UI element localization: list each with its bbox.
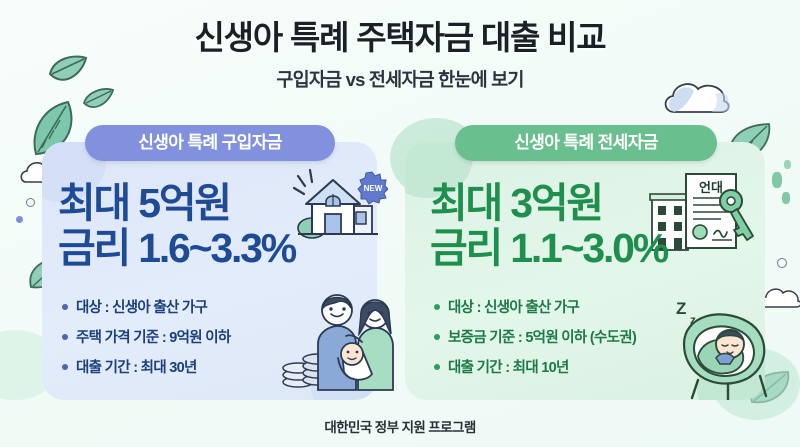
house-icon: NEW: [288, 166, 388, 253]
list-item: 대상 : 신생아 출산 가구: [62, 296, 231, 317]
bullet-dot-icon: [62, 304, 68, 310]
document-title-label: 언대: [699, 180, 723, 195]
family-icon: [280, 282, 400, 397]
page-title: 신생아 특례 주택자금 대출 비교: [0, 20, 800, 57]
bullet-dot-icon: [434, 364, 440, 370]
jeonse-amount: 최대 3억원: [430, 183, 602, 224]
purchase-rate: 금리 1.6~3.3%: [58, 228, 295, 269]
bullet-dot-icon: [434, 304, 440, 310]
list-item: 대출 기간 : 최대 10년: [434, 356, 636, 377]
list-item-label: 대출 기간 : 최대 10년: [448, 356, 569, 377]
dot-decoration: [784, 160, 791, 169]
footer-note: 대한민국 정부 지원 프로그램: [0, 416, 800, 436]
list-item-label: 대출 기간 : 최대 30년: [76, 356, 197, 377]
dot-decoration: [772, 172, 782, 188]
list-item-label: 주택 가격 기준 : 9억원 이하: [76, 326, 231, 347]
page-subtitle: 구입자금 vs 전세자금 한눈에 보기: [0, 66, 800, 92]
badge-jeonse-loan: 신생아 특례 전세자금: [455, 125, 717, 161]
dot-decoration: [26, 198, 35, 207]
list-item-label: 대상 : 신생아 출산 가구: [448, 296, 579, 317]
badge-purchase-loan: 신생아 특례 구입자금: [85, 125, 335, 161]
bullet-dot-icon: [62, 364, 68, 370]
infographic-canvas: 신생아 특례 주택자금 대출 비교 구입자금 vs 전세자금 한눈에 보기 신생…: [0, 0, 800, 447]
new-badge-icon: NEW: [364, 184, 383, 193]
dot-decoration: [16, 216, 23, 223]
list-item: 대상 : 신생아 출산 가구: [434, 296, 636, 317]
bullet-dot-icon: [434, 334, 440, 340]
list-item-label: 대상 : 신생아 출산 가구: [76, 296, 207, 317]
purchase-amount: 최대 5억원: [58, 183, 230, 224]
list-item: 주택 가격 기준 : 9억원 이하: [62, 326, 231, 347]
list-item: 대출 기간 : 최대 30년: [62, 356, 231, 377]
dot-decoration: [782, 192, 790, 204]
bullet-dot-icon: [62, 334, 68, 340]
purchase-bullet-list: 대상 : 신생아 출산 가구 주택 가격 기준 : 9억원 이하 대출 기간 :…: [62, 296, 231, 386]
list-item-label: 보증금 기준 : 5억원 이하 (수도권): [448, 326, 636, 347]
sleep-z-icon: Z: [676, 299, 686, 318]
dot-decoration: [777, 258, 787, 268]
jeonse-bullet-list: 대상 : 신생아 출산 가구 보증금 기준 : 5억원 이하 (수도권) 대출 …: [434, 296, 636, 386]
header: 신생아 특례 주택자금 대출 비교 구입자금 vs 전세자금 한눈에 보기: [0, 20, 800, 92]
list-item: 보증금 기준 : 5억원 이하 (수도권): [434, 326, 636, 347]
baby-cradle-icon: Z z: [672, 296, 782, 405]
jeonse-rate: 금리 1.1~3.0%: [430, 228, 667, 269]
